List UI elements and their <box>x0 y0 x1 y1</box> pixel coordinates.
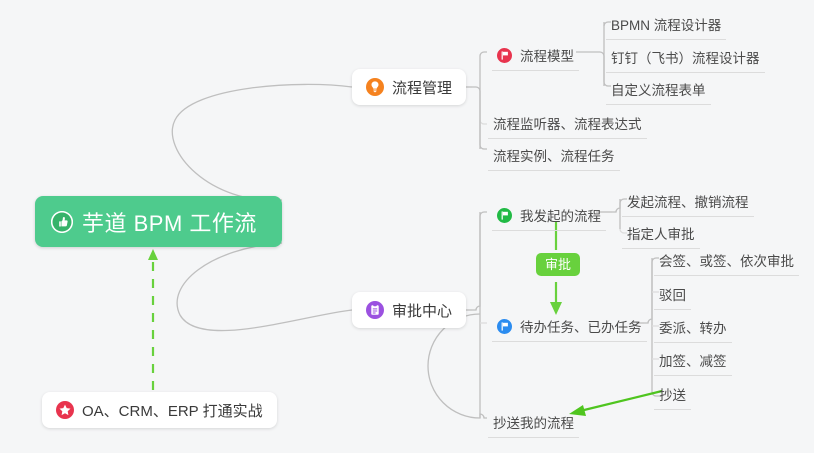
flag-icon <box>497 319 512 334</box>
leaf-label-reject: 驳回 <box>659 284 686 304</box>
leaf-start-cancel-process[interactable]: 发起流程、撤销流程 <box>622 188 754 217</box>
root-label: 芋道 BPM 工作流 <box>82 206 257 238</box>
leaf-todo-done-tasks[interactable]: 待办任务、已办任务 <box>492 313 647 342</box>
leaf-my-initiated[interactable]: 我发起的流程 <box>492 202 606 231</box>
bottom-note-card[interactable]: OA、CRM、ERP 打通实战 <box>42 392 277 428</box>
star-icon <box>56 401 74 419</box>
lightbulb-icon <box>366 78 384 96</box>
flag-icon <box>497 208 512 223</box>
leaf-label-cc: 抄送 <box>659 384 686 404</box>
branch-label-process-management: 流程管理 <box>392 77 452 98</box>
leaf-assignee-approval[interactable]: 指定人审批 <box>622 220 700 249</box>
leaf-countersign[interactable]: 会签、或签、依次审批 <box>654 247 799 276</box>
leaf-label-todo-done-tasks: 待办任务、已办任务 <box>520 316 642 336</box>
leaf-label-my-initiated: 我发起的流程 <box>520 205 601 225</box>
leaf-label-countersign: 会签、或签、依次审批 <box>659 250 794 270</box>
branch-node-approval-center[interactable]: 审批中心 <box>352 292 466 328</box>
leaf-process-listener[interactable]: 流程监听器、流程表达式 <box>488 110 647 139</box>
leaf-bpmn-designer[interactable]: BPMN 流程设计器 <box>606 11 726 40</box>
leaf-label-assignee-approval: 指定人审批 <box>627 223 695 243</box>
flag-icon <box>497 48 512 63</box>
root-node[interactable]: 芋道 BPM 工作流 <box>35 196 282 247</box>
approval-tag: 审批 <box>536 253 580 276</box>
leaf-delegate-transfer[interactable]: 委派、转办 <box>654 314 732 343</box>
dashed-green-arrow <box>148 249 158 390</box>
leaf-add-remove-sign[interactable]: 加签、减签 <box>654 347 732 376</box>
leaf-label-process-listener: 流程监听器、流程表达式 <box>493 113 642 133</box>
leaf-label-dingtalk-designer: 钉钉（飞书）流程设计器 <box>611 47 760 67</box>
thumbs-up-icon <box>51 211 73 233</box>
clipboard-icon <box>366 301 384 319</box>
leaf-process-instance[interactable]: 流程实例、流程任务 <box>488 142 620 171</box>
leaf-dingtalk-designer[interactable]: 钉钉（飞书）流程设计器 <box>606 44 765 73</box>
bottom-note-label: OA、CRM、ERP 打通实战 <box>82 400 263 421</box>
leaf-label-custom-form: 自定义流程表单 <box>611 79 706 99</box>
leaf-label-cc-to-me: 抄送我的流程 <box>493 412 574 432</box>
leaf-label-process-instance: 流程实例、流程任务 <box>493 145 615 165</box>
leaf-cc-to-me[interactable]: 抄送我的流程 <box>488 409 579 438</box>
leaf-label-start-cancel-process: 发起流程、撤销流程 <box>627 191 749 211</box>
cc-flow-arrow <box>569 391 662 416</box>
leaf-label-delegate-transfer: 委派、转办 <box>659 317 727 337</box>
leaf-process-model[interactable]: 流程模型 <box>492 42 579 71</box>
leaf-label-bpmn-designer: BPMN 流程设计器 <box>611 14 721 34</box>
leaf-reject[interactable]: 驳回 <box>654 281 691 310</box>
leaf-label-add-remove-sign: 加签、减签 <box>659 350 727 370</box>
mindmap-canvas: 芋道 BPM 工作流 流程管理 流程模型 BPMN 流程设计器 钉钉（飞书）流程 <box>0 0 814 453</box>
branch-label-approval-center: 审批中心 <box>392 300 452 321</box>
leaf-label-process-model: 流程模型 <box>520 45 574 65</box>
leaf-custom-form[interactable]: 自定义流程表单 <box>606 76 711 105</box>
leaf-cc[interactable]: 抄送 <box>654 381 691 410</box>
branch-node-process-management[interactable]: 流程管理 <box>352 69 466 105</box>
